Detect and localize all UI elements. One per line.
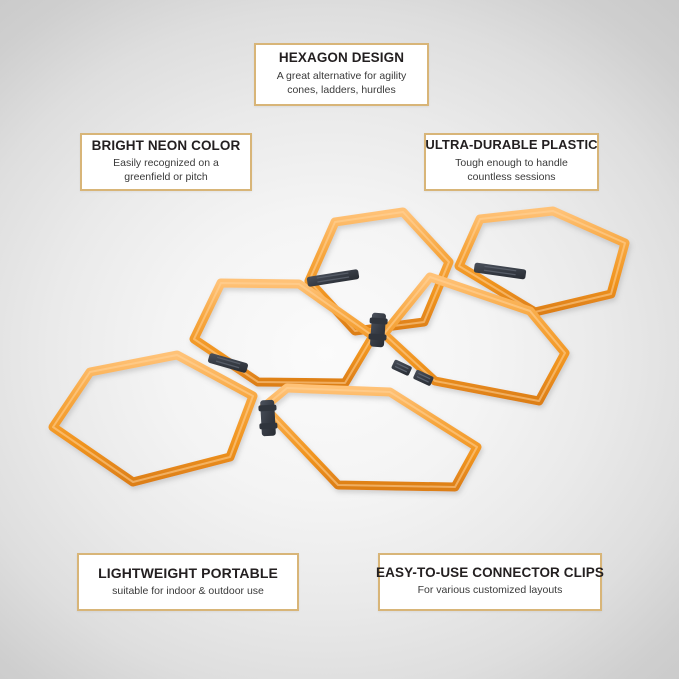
- callout-description: For various customized layouts: [418, 584, 563, 598]
- callout-description-line2: cones, ladders, hurdles: [277, 84, 407, 98]
- connector-clip-bottom-vertical: [258, 400, 278, 437]
- callout-bright-neon-color: BRIGHT NEON COLOR Easily recognized on a…: [80, 133, 252, 191]
- callout-description-line2: greenfield or pitch: [113, 171, 219, 185]
- callout-title: HEXAGON DESIGN: [279, 50, 404, 66]
- callout-description-line1: suitable for indoor & outdoor use: [112, 585, 264, 599]
- hexagon-ring-bottom-left: [53, 355, 253, 482]
- callout-hexagon-design: HEXAGON DESIGN A great alternative for a…: [254, 43, 429, 106]
- hexagon-ring-middle-left: [194, 283, 373, 383]
- callout-description-line1: Easily recognized on a: [113, 157, 219, 171]
- callout-description-line1: For various customized layouts: [418, 584, 563, 598]
- callout-title: ULTRA-DURABLE PLASTIC: [425, 138, 597, 153]
- callout-description: suitable for indoor & outdoor use: [112, 585, 264, 599]
- hexagon-ring-middle-right: [384, 277, 565, 401]
- callout-description-line2: countless sessions: [455, 171, 568, 185]
- callout-title: BRIGHT NEON COLOR: [92, 138, 241, 154]
- callout-ultra-durable-plastic: ULTRA-DURABLE PLASTIC Tough enough to ha…: [424, 133, 599, 191]
- callout-description-line1: Tough enough to handle: [455, 157, 568, 171]
- hexagon-ring-group: [53, 211, 625, 487]
- infographic-canvas: HEXAGON DESIGN A great alternative for a…: [0, 0, 679, 679]
- callout-easy-to-use-connector-clips: EASY-TO-USE CONNECTOR CLIPS For various …: [378, 553, 602, 611]
- callout-description: Tough enough to handle countless session…: [455, 157, 568, 185]
- callout-title: LIGHTWEIGHT PORTABLE: [98, 565, 278, 581]
- callout-description-line1: A great alternative for agility: [277, 70, 407, 84]
- callout-description: Easily recognized on a greenfield or pit…: [113, 157, 219, 185]
- callout-title: EASY-TO-USE CONNECTOR CLIPS: [376, 565, 604, 581]
- callout-lightweight-portable: LIGHTWEIGHT PORTABLE suitable for indoor…: [77, 553, 299, 611]
- hexagon-ring-bottom-center: [264, 388, 477, 487]
- callout-description: A great alternative for agility cones, l…: [277, 70, 407, 98]
